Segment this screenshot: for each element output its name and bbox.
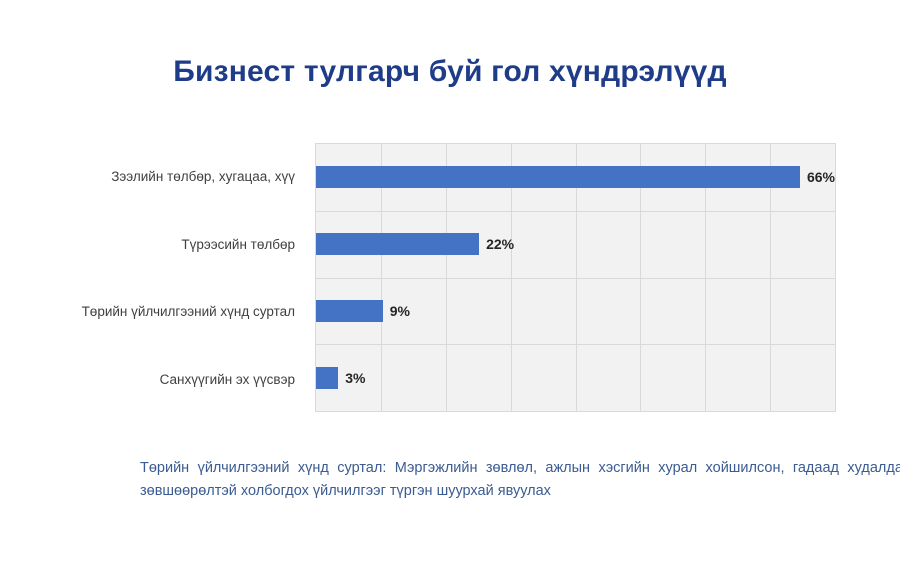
bar[interactable] (316, 367, 338, 389)
bar-chart: Зээлийн төлбөр, хугацаа, хүү Түрээсийн т… (0, 143, 900, 413)
bar-row[interactable]: 22% (316, 211, 835, 278)
footnote-text: Төрийн үйлчилгээний хүнд суртал: Мэргэжл… (140, 457, 900, 503)
category-label: Түрээсийн төлбөр (0, 211, 305, 279)
bar-value-label: 22% (486, 236, 514, 252)
bar-value-label: 66% (807, 169, 835, 185)
bar-row[interactable]: 3% (316, 344, 835, 411)
category-label: Төрийн үйлчилгээний хүнд суртал (0, 278, 305, 346)
bar-value-label: 9% (390, 303, 410, 319)
bar[interactable] (316, 300, 383, 322)
bar-row[interactable]: 9% (316, 278, 835, 345)
bar-value-label: 3% (345, 370, 365, 386)
bar-row[interactable]: 66% (316, 144, 835, 211)
page-title: Бизнест тулгарч буй гол хүндрэлүүд (0, 55, 900, 89)
bar[interactable] (316, 166, 800, 188)
category-label: Санхүүгийн эх үүсвэр (0, 346, 305, 414)
plot-area: 66% 22% 9% 3% (315, 143, 836, 412)
bar-series: 66% 22% 9% 3% (316, 144, 835, 411)
category-label: Зээлийн төлбөр, хугацаа, хүү (0, 143, 305, 211)
category-axis: Зээлийн төлбөр, хугацаа, хүү Түрээсийн т… (0, 143, 305, 413)
bar[interactable] (316, 233, 479, 255)
